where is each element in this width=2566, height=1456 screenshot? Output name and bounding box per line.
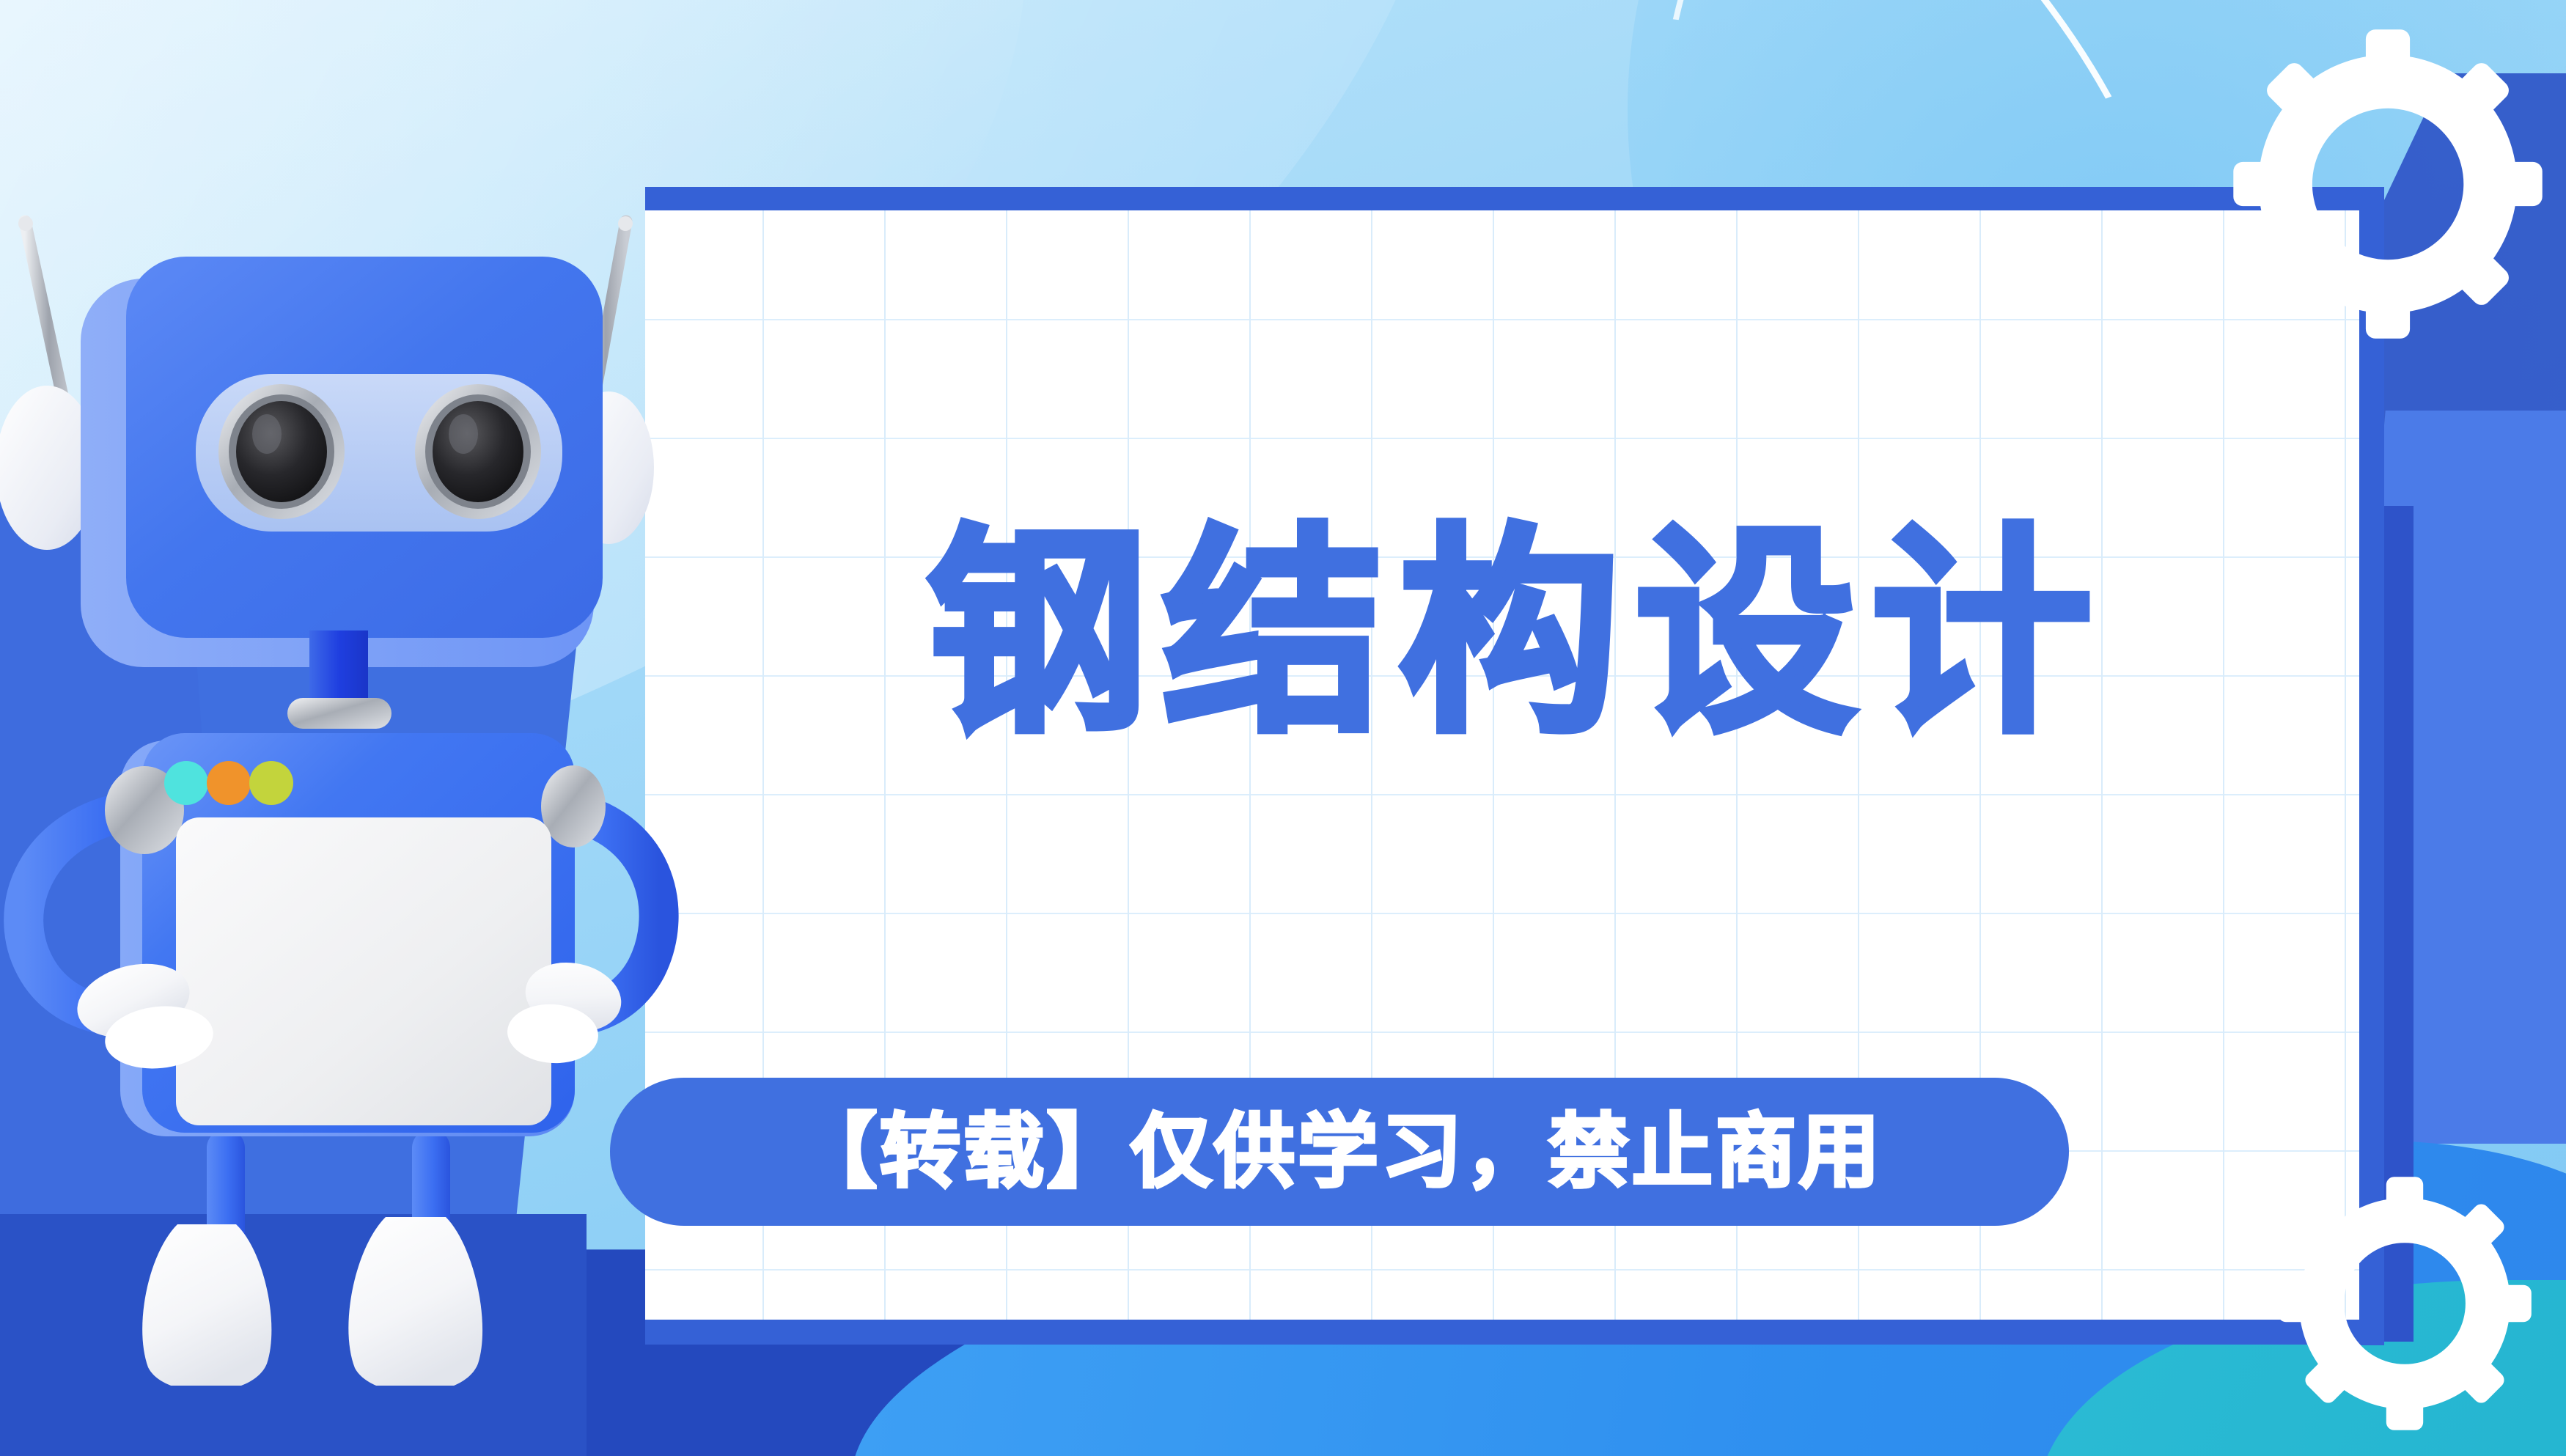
gear-icon-bottom-right bbox=[2273, 1172, 2537, 1435]
card-border-bottom bbox=[645, 1320, 2383, 1345]
poster-canvas: 钢结构设计 【转载】仅供学习，禁止商用 bbox=[0, 0, 2566, 1456]
robot-foot-left bbox=[142, 1224, 271, 1386]
robot-eye-left bbox=[218, 384, 345, 519]
robot-neck-joint bbox=[287, 698, 391, 729]
subtitle-banner: 【转载】仅供学习，禁止商用 bbox=[610, 1078, 2069, 1226]
indicator-light-yellow bbox=[249, 761, 293, 805]
robot-screen bbox=[176, 817, 551, 1125]
page-title: 钢结构设计 bbox=[700, 499, 2335, 770]
page-title-text: 钢结构设计 bbox=[927, 524, 2108, 744]
robot-foot-right bbox=[348, 1217, 482, 1386]
gear-icon-top-right bbox=[2230, 26, 2545, 342]
indicator-light-cyan bbox=[164, 761, 208, 805]
robot-shoulder-right bbox=[541, 765, 606, 848]
indicator-light-orange bbox=[207, 761, 251, 805]
robot-eye-right bbox=[415, 384, 541, 519]
subtitle-text: 【转载】仅供学习，禁止商用 bbox=[796, 1111, 1883, 1192]
card-border-top bbox=[645, 187, 2383, 210]
robot-mascot bbox=[0, 154, 698, 1386]
